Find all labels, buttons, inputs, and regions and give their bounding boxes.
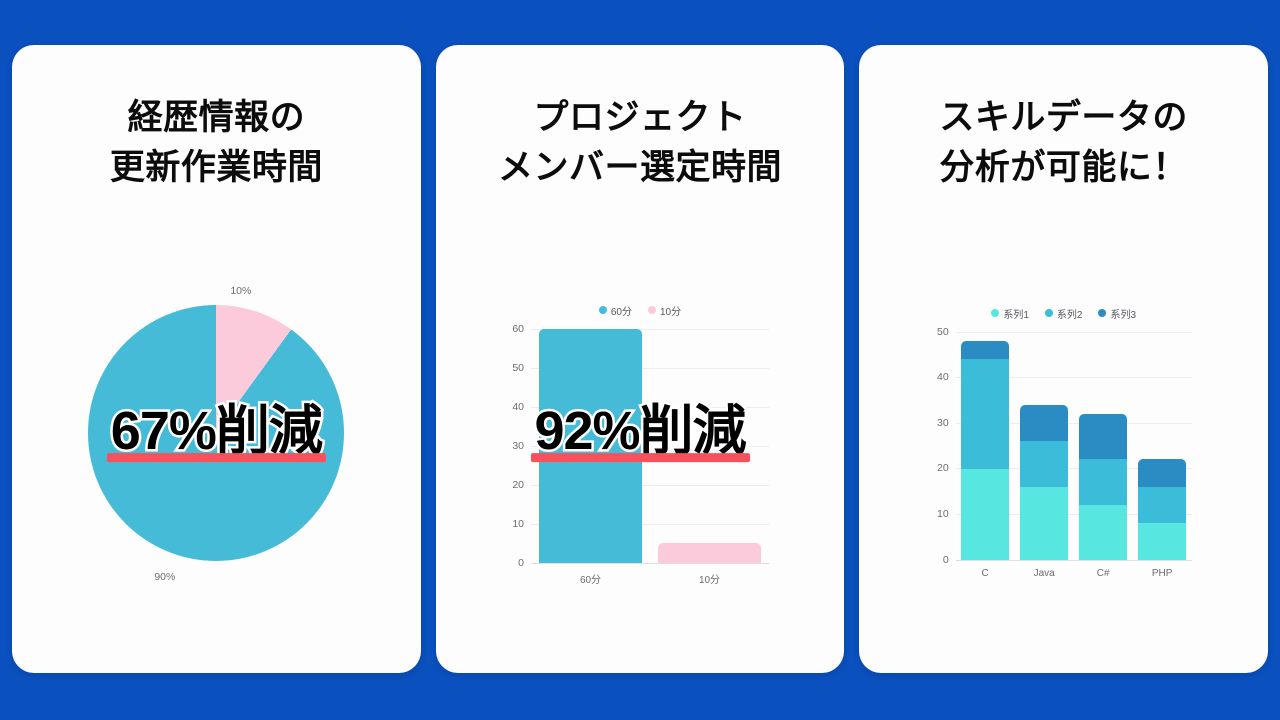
bar-10分: [658, 543, 760, 563]
gridline: [956, 332, 1192, 333]
legend-swatch-icon: [1045, 309, 1053, 317]
pie-chart: 10% 90%: [88, 305, 344, 561]
legend-item-1: 60分: [599, 303, 632, 318]
y-axis-tick: 30: [512, 440, 524, 452]
legend-label: 系列1: [1003, 306, 1029, 321]
x-axis-tick: PHP: [1152, 568, 1173, 579]
legend-label: 系列2: [1057, 306, 1083, 321]
bar-segment-系列1: [1138, 523, 1186, 559]
bar-segment-系列2: [1020, 441, 1068, 487]
bar-segment-系列1: [961, 469, 1009, 560]
y-axis-tick: 40: [512, 401, 524, 413]
bar-chart-minutes: 60分10分 010203040506060分10分: [505, 303, 775, 585]
card-career-update-time: 経歴情報の 更新作業時間 10% 90% 67%削減: [12, 45, 421, 673]
legend-item-3: 系列3: [1098, 306, 1136, 321]
card-deck: 経歴情報の 更新作業時間 10% 90% 67%削減 プロジェクト メンバー選定…: [12, 45, 1268, 673]
bar-Java: [1020, 405, 1068, 560]
legend-swatch-icon: [1098, 309, 1106, 317]
y-axis-tick: 20: [937, 462, 949, 474]
legend-swatch-icon: [991, 309, 999, 317]
bar-segment-系列3: [1138, 459, 1186, 486]
y-axis-tick: 20: [512, 479, 524, 491]
card-title-1: 経歴情報の 更新作業時間: [110, 93, 323, 192]
plot-axes-3: 01020304050CJavaC#PHP: [956, 332, 1192, 560]
x-axis-tick: C#: [1097, 568, 1110, 579]
y-axis-tick: 50: [937, 326, 949, 338]
bar-segment-系列2: [1079, 459, 1127, 505]
legend-item-2: 10分: [648, 303, 681, 318]
bar-C#: [1079, 414, 1127, 560]
bar-segment-系列3: [1079, 414, 1127, 460]
bar-segment-系列2: [1138, 487, 1186, 523]
legend-swatch-icon: [599, 306, 607, 314]
chart-area-3: 系列1系列2系列3 01020304050CJavaC#PHP: [859, 192, 1268, 673]
x-axis-line: [531, 563, 769, 564]
bar-C: [961, 341, 1009, 560]
x-axis-tick: C: [982, 568, 989, 579]
bar-segment-系列1: [1020, 487, 1068, 560]
legend-label: 系列3: [1110, 306, 1136, 321]
plot-axes-2: 010203040506060分10分: [531, 329, 769, 563]
y-axis-tick: 60: [512, 323, 524, 335]
y-axis-tick: 10: [512, 518, 524, 530]
y-axis-tick: 10: [937, 508, 949, 520]
bar-segment-系列1: [1079, 505, 1127, 560]
bar-segment-系列3: [961, 341, 1009, 359]
legend-swatch-icon: [648, 306, 656, 314]
y-axis-tick: 50: [512, 362, 524, 374]
y-axis-tick: 0: [518, 557, 524, 569]
legend-label: 10分: [660, 303, 681, 318]
chart-area-2: 60分10分 010203040506060分10分 92%削減: [436, 192, 845, 673]
y-axis-tick: 30: [937, 417, 949, 429]
y-axis-tick: 40: [937, 371, 949, 383]
x-axis-line: [956, 560, 1192, 561]
bar-segment-系列2: [961, 359, 1009, 468]
bar-60分: [539, 329, 641, 563]
card-title-3: スキルデータの 分析が可能に！: [939, 93, 1188, 192]
chart-area-1: 10% 90% 67%削減: [12, 192, 421, 673]
x-axis-tick: 10分: [699, 571, 720, 586]
x-axis-tick: Java: [1034, 568, 1055, 579]
card-title-2: プロジェクト メンバー選定時間: [498, 93, 782, 192]
legend-label: 60分: [611, 303, 632, 318]
pie-slices: [88, 305, 344, 561]
y-axis-tick: 0: [943, 554, 949, 566]
x-axis-tick: 60分: [580, 571, 601, 586]
pie-label-10: 10%: [230, 285, 251, 297]
bar-PHP: [1138, 459, 1186, 559]
card-project-member-selection-time: プロジェクト メンバー選定時間 60分10分 010203040506060分1…: [436, 45, 845, 673]
pie-label-90: 90%: [154, 571, 175, 583]
stacked-bar-chart-skills: 系列1系列2系列3 01020304050CJavaC#PHP: [930, 306, 1198, 582]
legend-item-2: 系列2: [1045, 306, 1083, 321]
legend-item-1: 系列1: [991, 306, 1029, 321]
chart-legend-2: 60分10分: [505, 303, 775, 318]
chart-legend-3: 系列1系列2系列3: [930, 306, 1198, 321]
bar-segment-系列3: [1020, 405, 1068, 441]
card-skill-data-analysis: スキルデータの 分析が可能に！ 系列1系列2系列3 01020304050CJa…: [859, 45, 1268, 673]
